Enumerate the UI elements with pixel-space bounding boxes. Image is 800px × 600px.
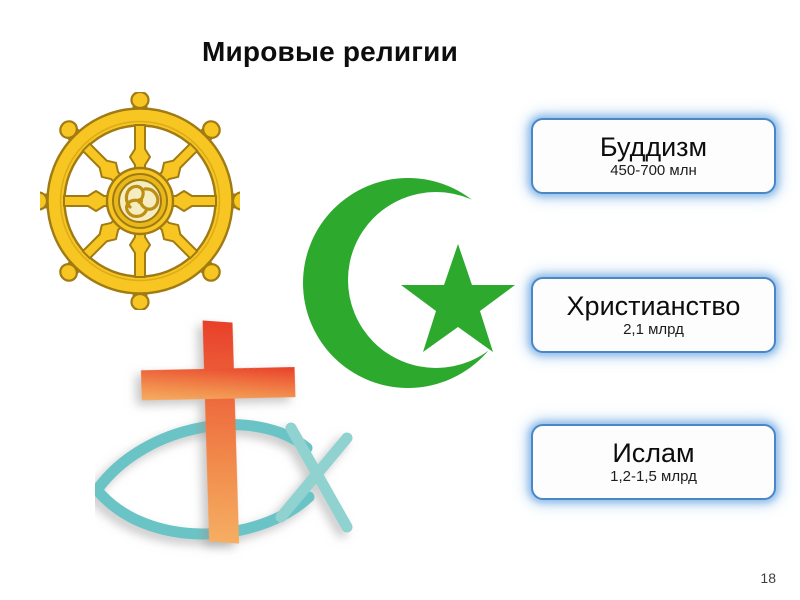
- info-box-name: Ислам: [612, 439, 694, 468]
- page-number: 18: [760, 570, 776, 586]
- info-box-name: Христианство: [567, 292, 741, 321]
- christian-symbols-group: [95, 305, 390, 560]
- info-box-count: 450-700 млн: [610, 162, 697, 181]
- page-title: Мировые религии: [0, 36, 660, 68]
- info-box-count: 2,1 млрд: [623, 321, 684, 340]
- dharma-wheel-icon: [40, 92, 240, 310]
- slide-canvas: Мировые религии: [0, 0, 800, 600]
- info-box-name: Буддизм: [600, 133, 707, 162]
- info-box-christianity[interactable]: Христианство 2,1 млрд: [531, 277, 776, 353]
- info-box-islam[interactable]: Ислам 1,2-1,5 млрд: [531, 424, 776, 500]
- info-box-buddhism[interactable]: Буддизм 450-700 млн: [531, 118, 776, 194]
- info-box-count: 1,2-1,5 млрд: [610, 468, 697, 487]
